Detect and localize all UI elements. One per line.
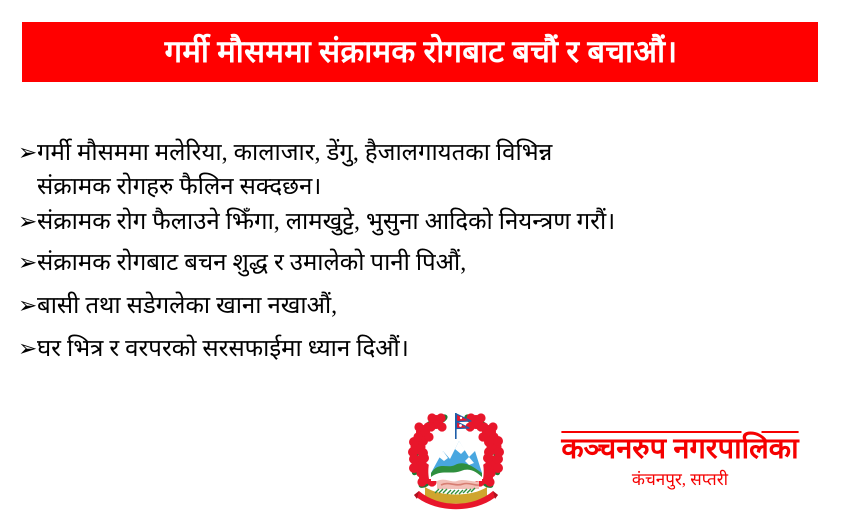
poster-canvas: गर्मी मौसममा संक्रामक रोगबाट बचौं र बचाऔ… bbox=[0, 0, 842, 522]
list-item-line: संक्रामक रोगहरु फैलिन सक्दछन। bbox=[37, 174, 321, 200]
list-item-line: गर्मी मौसममा मलेरिया, कालाजार, डेंगु, है… bbox=[37, 140, 552, 166]
list-item: ➢ संक्रामक रोग फैलाउने झिँगा, लामखुट्टे,… bbox=[18, 205, 830, 239]
arrow-bullet-icon: ➢ bbox=[18, 136, 37, 170]
arrow-bullet-icon: ➢ bbox=[18, 332, 37, 366]
list-item-text: बासी तथा सडेगलेका खाना नखाऔं, bbox=[37, 289, 830, 323]
advice-list: ➢ गर्मी मौसममा मलेरिया, कालाजार, डेंगु, … bbox=[18, 136, 830, 370]
arrow-bullet-icon: ➢ bbox=[18, 246, 37, 280]
page-title: गर्मी मौसममा संक्रामक रोगबाट बचौं र बचाऔ… bbox=[10, 24, 832, 80]
arrow-bullet-icon: ➢ bbox=[18, 289, 37, 323]
arrow-bullet-icon: ➢ bbox=[18, 205, 37, 239]
list-item: ➢ घर भित्र र वरपरको सरसफाईमा ध्यान दिऔं। bbox=[18, 332, 830, 366]
organization-name: कञ्चनरुप नगरपालिका bbox=[525, 431, 835, 467]
list-item-text: गर्मी मौसममा मलेरिया, कालाजार, डेंगु, है… bbox=[37, 136, 830, 204]
list-item-text: घर भित्र र वरपरको सरसफाईमा ध्यान दिऔं। bbox=[37, 332, 830, 366]
list-item: ➢ गर्मी मौसममा मलेरिया, कालाजार, डेंगु, … bbox=[18, 136, 830, 204]
footer: कञ्चनरुप नगरपालिका कंचनपुर, सप्तरी bbox=[395, 405, 835, 517]
list-item-text: संक्रामक रोगबाट बचन शुद्ध र उमालेको पानी… bbox=[37, 246, 830, 280]
list-item-text: संक्रामक रोग फैलाउने झिँगा, लामखुट्टे, भ… bbox=[37, 205, 830, 239]
list-item: ➢ बासी तथा सडेगलेका खाना नखाऔं, bbox=[18, 289, 830, 323]
organization-block: कञ्चनरुप नगरपालिका कंचनपुर, सप्तरी bbox=[517, 431, 835, 491]
nepal-national-emblem-icon bbox=[395, 407, 517, 515]
organization-location: कंचनपुर, सप्तरी bbox=[525, 468, 835, 491]
list-item: ➢ संक्रामक रोगबाट बचन शुद्ध र उमालेको पा… bbox=[18, 246, 830, 280]
